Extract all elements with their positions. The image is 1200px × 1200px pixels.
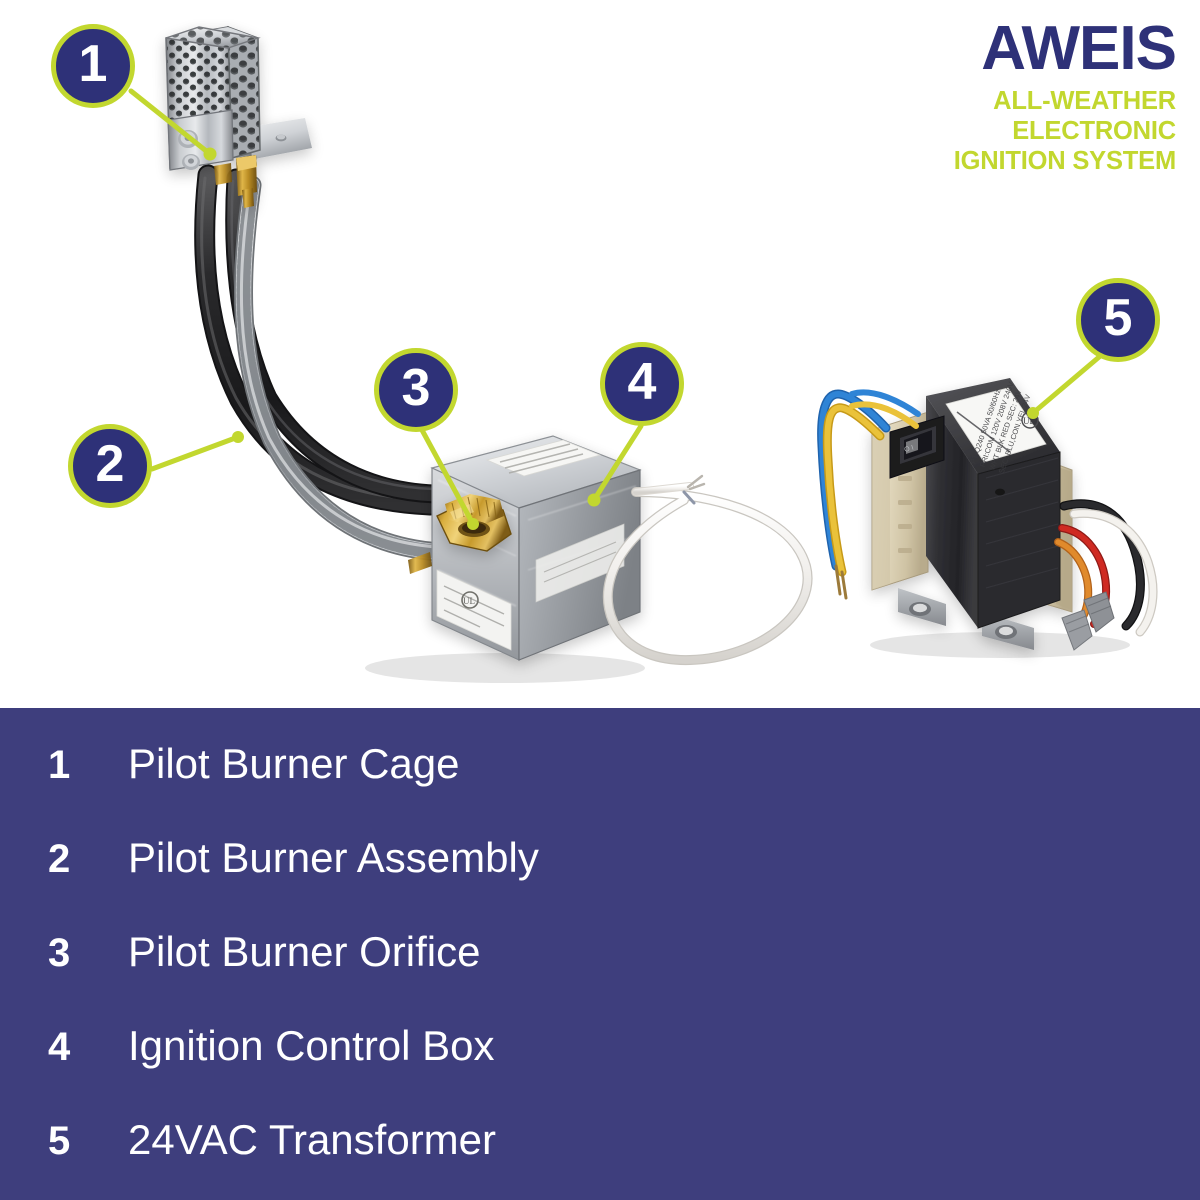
legend-item-4: 4 Ignition Control Box [48,1022,495,1070]
pilot-burner-cage [166,27,312,208]
legend-item-4-number: 4 [48,1025,128,1070]
ignition-control-box: UL [432,436,640,660]
legend-item-1-label: Pilot Burner Cage [128,740,460,788]
product-photo-stage: UL [0,0,1200,708]
svg-text:UL: UL [463,596,475,606]
legend-item-1: 1 Pilot Burner Cage [48,740,460,788]
legend-item-3: 3 Pilot Burner Orifice [48,928,480,976]
callout-badge-3-number: 3 [402,362,431,414]
leader-line-2 [152,437,238,469]
brand-lockup: AWEIS ALL-WEATHER ELECTRONIC IGNITION SY… [954,18,1176,176]
legend-list: 1 Pilot Burner Cage 2 Pilot Burner Assem… [0,708,1200,1200]
legend-panel: 1 Pilot Burner Cage 2 Pilot Burner Assem… [0,708,1200,1200]
legend-item-4-label: Ignition Control Box [128,1022,495,1070]
callout-badge-4[interactable]: 4 [600,342,684,426]
leader-line-5 [1033,352,1105,413]
legend-item-3-number: 3 [48,931,128,976]
product-diagram-page: UL [0,0,1200,1200]
brand-name: AWEIS [954,18,1176,80]
legend-item-5-number: 5 [48,1119,128,1164]
callout-badge-4-number: 4 [628,356,657,408]
callout-badge-2-number: 2 [96,438,125,490]
legend-item-1-number: 1 [48,743,128,788]
legend-item-5-label: 24VAC Transformer [128,1116,496,1164]
legend-item-5: 5 24VAC Transformer [48,1116,496,1164]
callout-badge-5-number: 5 [1104,292,1133,344]
brand-tagline: ALL-WEATHER ELECTRONIC IGNITION SYSTEM [954,87,1176,176]
legend-item-2-number: 2 [48,837,128,882]
legend-item-2: 2 Pilot Burner Assembly [48,834,539,882]
brand-tagline-line-3: IGNITION SYSTEM [954,147,1176,177]
callout-badge-5[interactable]: 5 [1076,278,1160,362]
brand-tagline-line-1: ALL-WEATHER [954,87,1176,117]
callout-badge-3[interactable]: 3 [374,348,458,432]
legend-item-2-label: Pilot Burner Assembly [128,834,539,882]
legend-item-3-label: Pilot Burner Orifice [128,928,480,976]
callout-badge-1[interactable]: 1 [51,24,135,108]
brand-tagline-line-2: ELECTRONIC [954,117,1176,147]
callout-badge-2[interactable]: 2 [68,424,152,508]
callout-badge-1-number: 1 [79,38,108,90]
